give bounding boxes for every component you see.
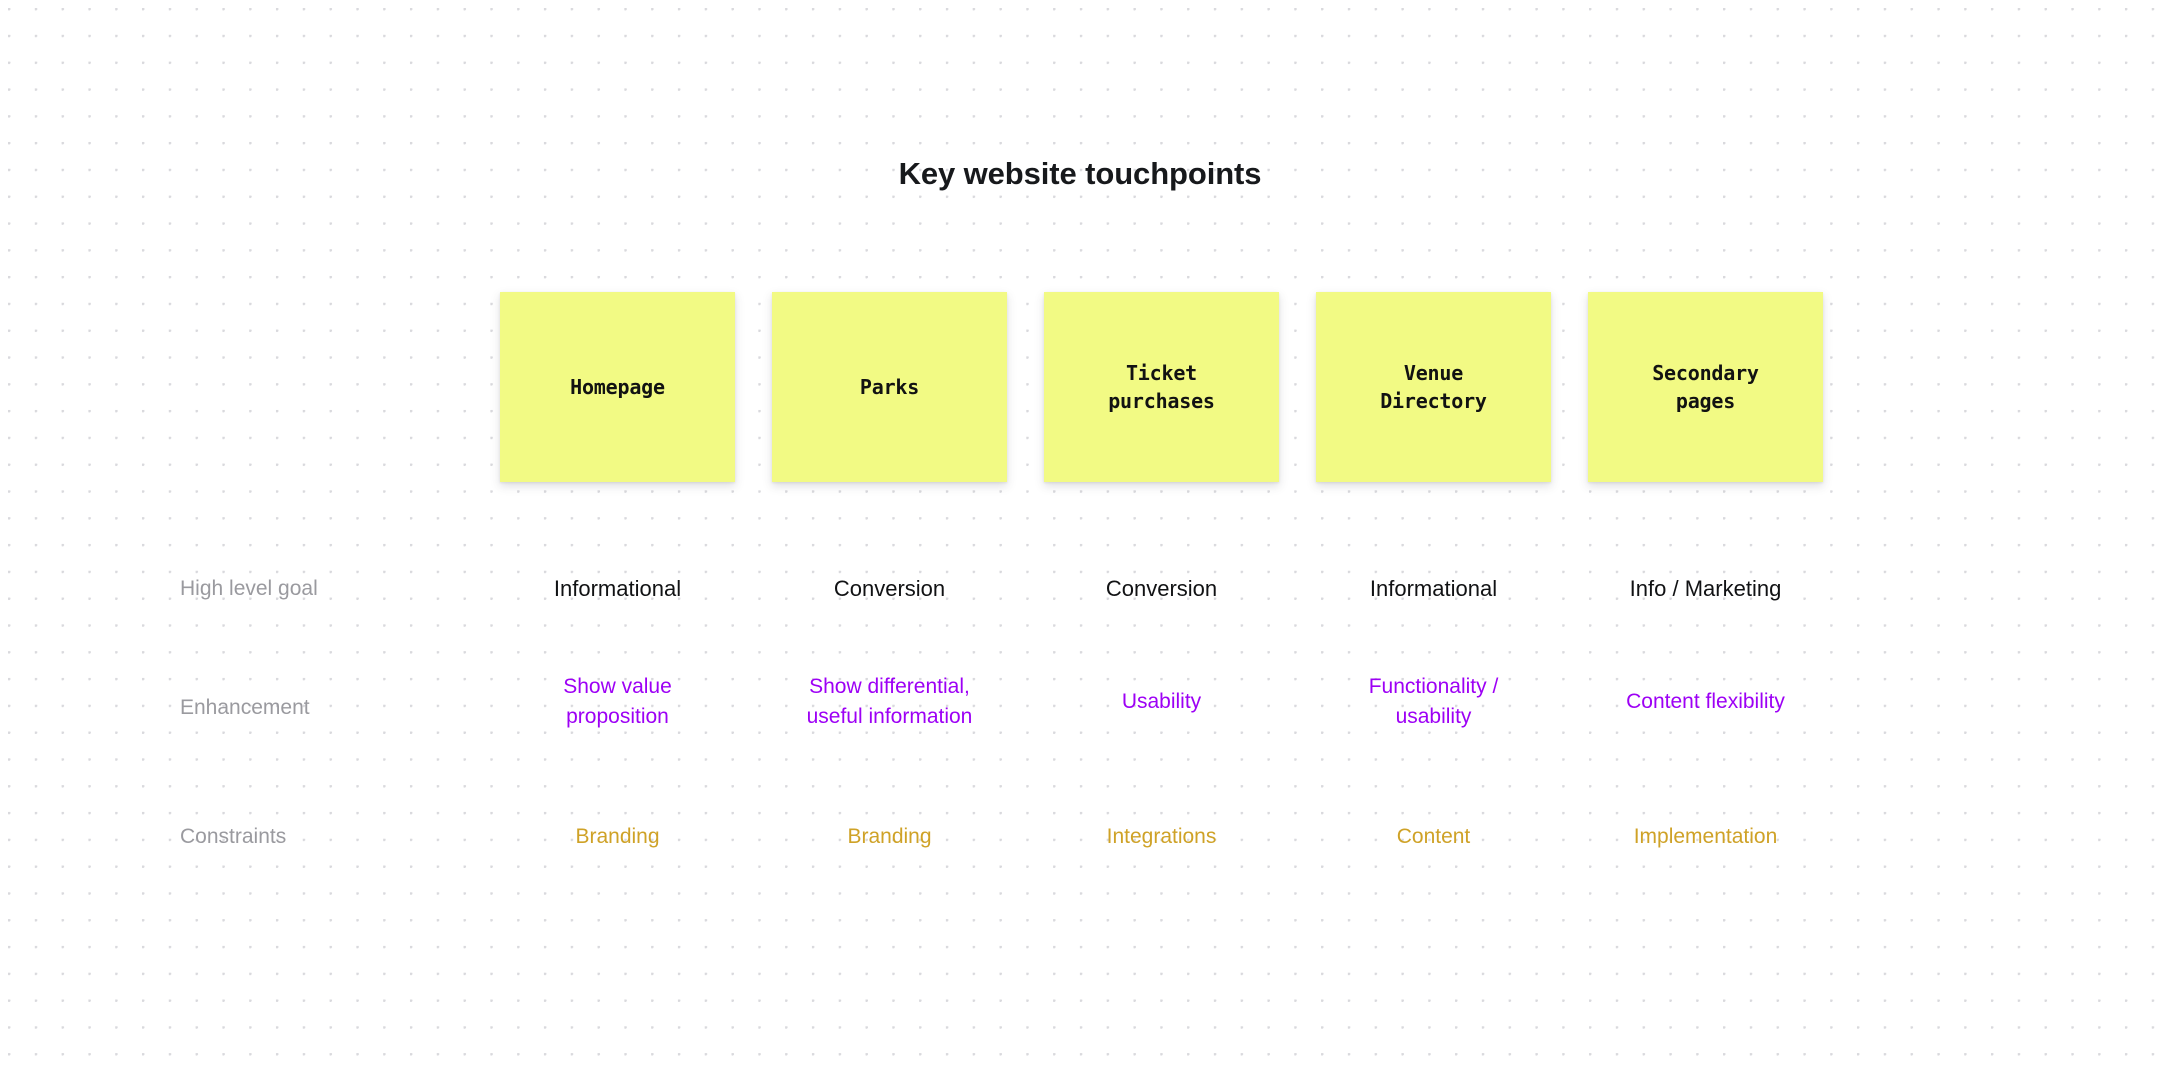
cell-high-level-goal[interactable]: Conversion xyxy=(1038,573,1285,604)
sticky-note[interactable]: Venue Directory xyxy=(1316,292,1551,482)
sticky-note[interactable]: Homepage xyxy=(500,292,735,482)
sticky-note-label: Venue Directory xyxy=(1380,359,1487,416)
sticky-note-label: Ticket purchases xyxy=(1108,359,1215,416)
row-label-high-level-goal: High level goal xyxy=(180,575,460,602)
sticky-note-label: Secondary pages xyxy=(1652,359,1759,416)
cell-enhancement[interactable]: Show value proposition xyxy=(494,654,741,750)
cell-enhancement[interactable]: Show differential, useful information xyxy=(766,654,1013,750)
row-label-constraints: Constraints xyxy=(180,823,460,850)
cell-constraint[interactable]: Content xyxy=(1310,822,1557,852)
cell-high-level-goal[interactable]: Informational xyxy=(1310,573,1557,604)
touchpoint-grid: Homepage Informational Show value propos… xyxy=(500,0,1825,1067)
cell-enhancement[interactable]: Functionality / usability xyxy=(1310,654,1557,750)
cell-constraint[interactable]: Implementation xyxy=(1582,822,1829,852)
touchpoint-column-ticket-purchases: Ticket purchases Conversion Usability In… xyxy=(1044,0,1279,1067)
touchpoint-column-parks: Parks Conversion Show differential, usef… xyxy=(772,0,1007,1067)
sticky-note[interactable]: Secondary pages xyxy=(1588,292,1823,482)
sticky-note-label: Homepage xyxy=(570,373,665,401)
cell-enhancement[interactable]: Usability xyxy=(1038,654,1285,750)
sticky-note-label: Parks xyxy=(860,373,919,401)
cell-high-level-goal[interactable]: Info / Marketing xyxy=(1582,573,1829,604)
cell-enhancement[interactable]: Content flexibility xyxy=(1582,654,1829,750)
sticky-note[interactable]: Parks xyxy=(772,292,1007,482)
whiteboard-canvas[interactable]: Key website touchpoints Homepage Informa… xyxy=(0,0,2160,1067)
cell-constraint[interactable]: Branding xyxy=(494,822,741,852)
touchpoint-column-homepage: Homepage Informational Show value propos… xyxy=(500,0,735,1067)
row-label-enhancement: Enhancement xyxy=(180,694,460,721)
cell-constraint[interactable]: Integrations xyxy=(1038,822,1285,852)
cell-constraint[interactable]: Branding xyxy=(766,822,1013,852)
sticky-note[interactable]: Ticket purchases xyxy=(1044,292,1279,482)
touchpoint-column-venue-directory: Venue Directory Informational Functional… xyxy=(1316,0,1551,1067)
cell-high-level-goal[interactable]: Informational xyxy=(494,573,741,604)
touchpoint-column-secondary-pages: Secondary pages Info / Marketing Content… xyxy=(1588,0,1823,1067)
cell-high-level-goal[interactable]: Conversion xyxy=(766,573,1013,604)
